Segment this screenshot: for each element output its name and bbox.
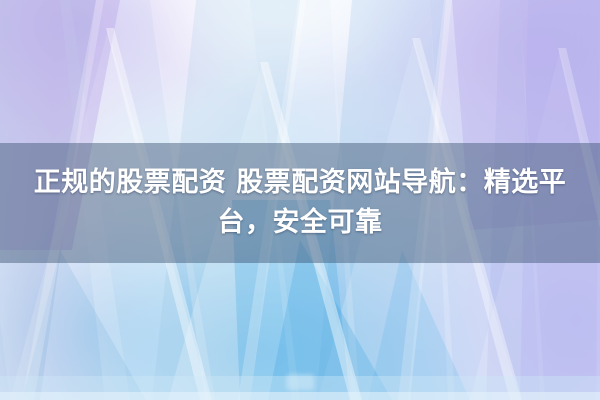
- headline-band: 正规的股票配资 股票配资网站导航：精选平台，安全可靠: [0, 143, 600, 263]
- faint-watermark: [286, 374, 314, 390]
- banner-headline: 正规的股票配资 股票配资网站导航：精选平台，安全可靠: [19, 163, 581, 243]
- promo-banner: 正规的股票配资 股票配资网站导航：精选平台，安全可靠: [0, 0, 600, 400]
